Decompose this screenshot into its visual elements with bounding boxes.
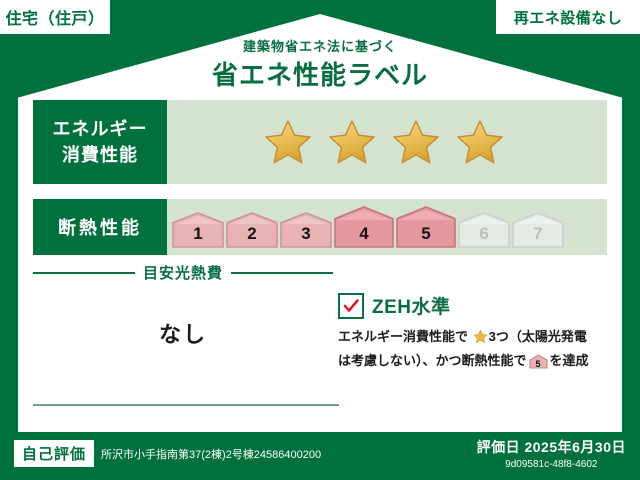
insulation-level-badge: 6 [458, 212, 510, 248]
insulation-level-label: 4 [334, 224, 394, 244]
insulation-level-badge: 7 [512, 212, 564, 248]
star-icon [455, 118, 505, 166]
insulation-performance-head: 断熱性能 [33, 199, 167, 255]
zeh-title: ZEH水準 [372, 292, 451, 319]
rule-right [231, 272, 333, 274]
footer-bar: 自己評価 所沢市小手指南第37(2棟)2号棟24586400200 評価日 20… [0, 432, 640, 480]
star-icon [391, 118, 441, 166]
check-icon [338, 293, 364, 319]
title-block: 建築物省エネ法に基づく 省エネ性能ラベル [0, 38, 640, 92]
insulation-level-badge: 5 [396, 206, 456, 248]
zeh-title-row: ZEH水準 [338, 292, 610, 319]
zeh-desc-part1: エネルギー消費性能で [338, 329, 468, 344]
energy-label-card: 住宅（住戸） 再エネ設備なし 建築物省エネ法に基づく 省エネ性能ラベル エネルギ… [0, 0, 640, 480]
building-type-tag: 住宅（住戸） [0, 0, 110, 34]
star-icon [263, 118, 313, 166]
property-address: 所沢市小手指南第37(2棟)2号棟24586400200 [101, 446, 321, 462]
insulation-level-badge: 3 [280, 212, 332, 248]
insulation-head-label: 断熱性能 [58, 214, 142, 240]
zeh-description: エネルギー消費性能で 3つ（太陽光発電 は考慮しない）、かつ断熱性能で 5 を達… [338, 326, 610, 375]
insulation-level-label: 3 [280, 224, 332, 244]
energy-performance-panel: エネルギー 消費性能 [33, 100, 607, 184]
utility-cost-value: なし [33, 317, 333, 349]
renewable-equipment-tag-label: 再エネ設備なし [514, 7, 623, 28]
footer-right: 評価日 2025年6月30日 9d09581c-48f8-4602 [477, 437, 626, 470]
zeh-desc-part3: は考慮しない）、かつ断熱性能で [338, 353, 527, 368]
utility-cost-block: 目安光熱費 なし [33, 262, 333, 349]
insulation-level-label: 5 [396, 224, 456, 244]
insulation-level-badge: 4 [334, 206, 394, 248]
renewable-equipment-tag: 再エネ設備なし [496, 0, 640, 34]
insulation-level-label: 2 [226, 224, 278, 244]
insulation-level-label: 6 [458, 224, 510, 244]
energy-performance-head: エネルギー 消費性能 [33, 100, 167, 184]
energy-performance-body [167, 100, 607, 184]
title-subtitle: 建築物省エネ法に基づく [0, 38, 640, 56]
insulation-performance-body: 1234567 [167, 199, 607, 255]
lower-section: 目安光熱費 なし ZEH水準 エネルギー消費性能で 3つ（太陽光発電 [33, 262, 607, 412]
insulation-performance-panel: 断熱性能 1234567 [33, 199, 607, 255]
section-divider [33, 404, 339, 406]
footer-left: 自己評価 所沢市小手指南第37(2棟)2号棟24586400200 [14, 440, 321, 467]
page-title: 省エネ性能ラベル [0, 58, 640, 92]
utility-cost-header: 目安光熱費 [33, 262, 333, 283]
star-icon [469, 332, 488, 347]
zeh-desc-part4: を達成 [550, 353, 589, 368]
energy-head-line2: 消費性能 [62, 142, 138, 168]
utility-cost-title: 目安光熱費 [143, 262, 223, 283]
building-type-tag-label: 住宅（住戸） [5, 5, 104, 29]
self-evaluation-badge: 自己評価 [14, 440, 94, 467]
insulation-level-inline-label: 5 [529, 354, 548, 375]
insulation-level-badge: 2 [226, 212, 278, 248]
insulation-level-label: 1 [172, 224, 224, 244]
star-rating [263, 118, 505, 166]
zeh-block: ZEH水準 エネルギー消費性能で 3つ（太陽光発電 は考慮しない）、かつ断熱性能… [338, 292, 610, 375]
insulation-level-badge: 1 [172, 212, 224, 248]
zeh-desc-part2: 3つ（太陽光発電 [489, 329, 587, 344]
insulation-level-label: 7 [512, 224, 564, 244]
insulation-level-scale: 1234567 [172, 206, 566, 248]
document-id: 9d09581c-48f8-4602 [477, 459, 626, 470]
energy-head-line1: エネルギー [53, 116, 148, 142]
insulation-level-inline-icon: 5 [529, 354, 548, 375]
star-icon [327, 118, 377, 166]
evaluation-date: 評価日 2025年6月30日 [477, 437, 626, 457]
rule-left [33, 272, 135, 274]
